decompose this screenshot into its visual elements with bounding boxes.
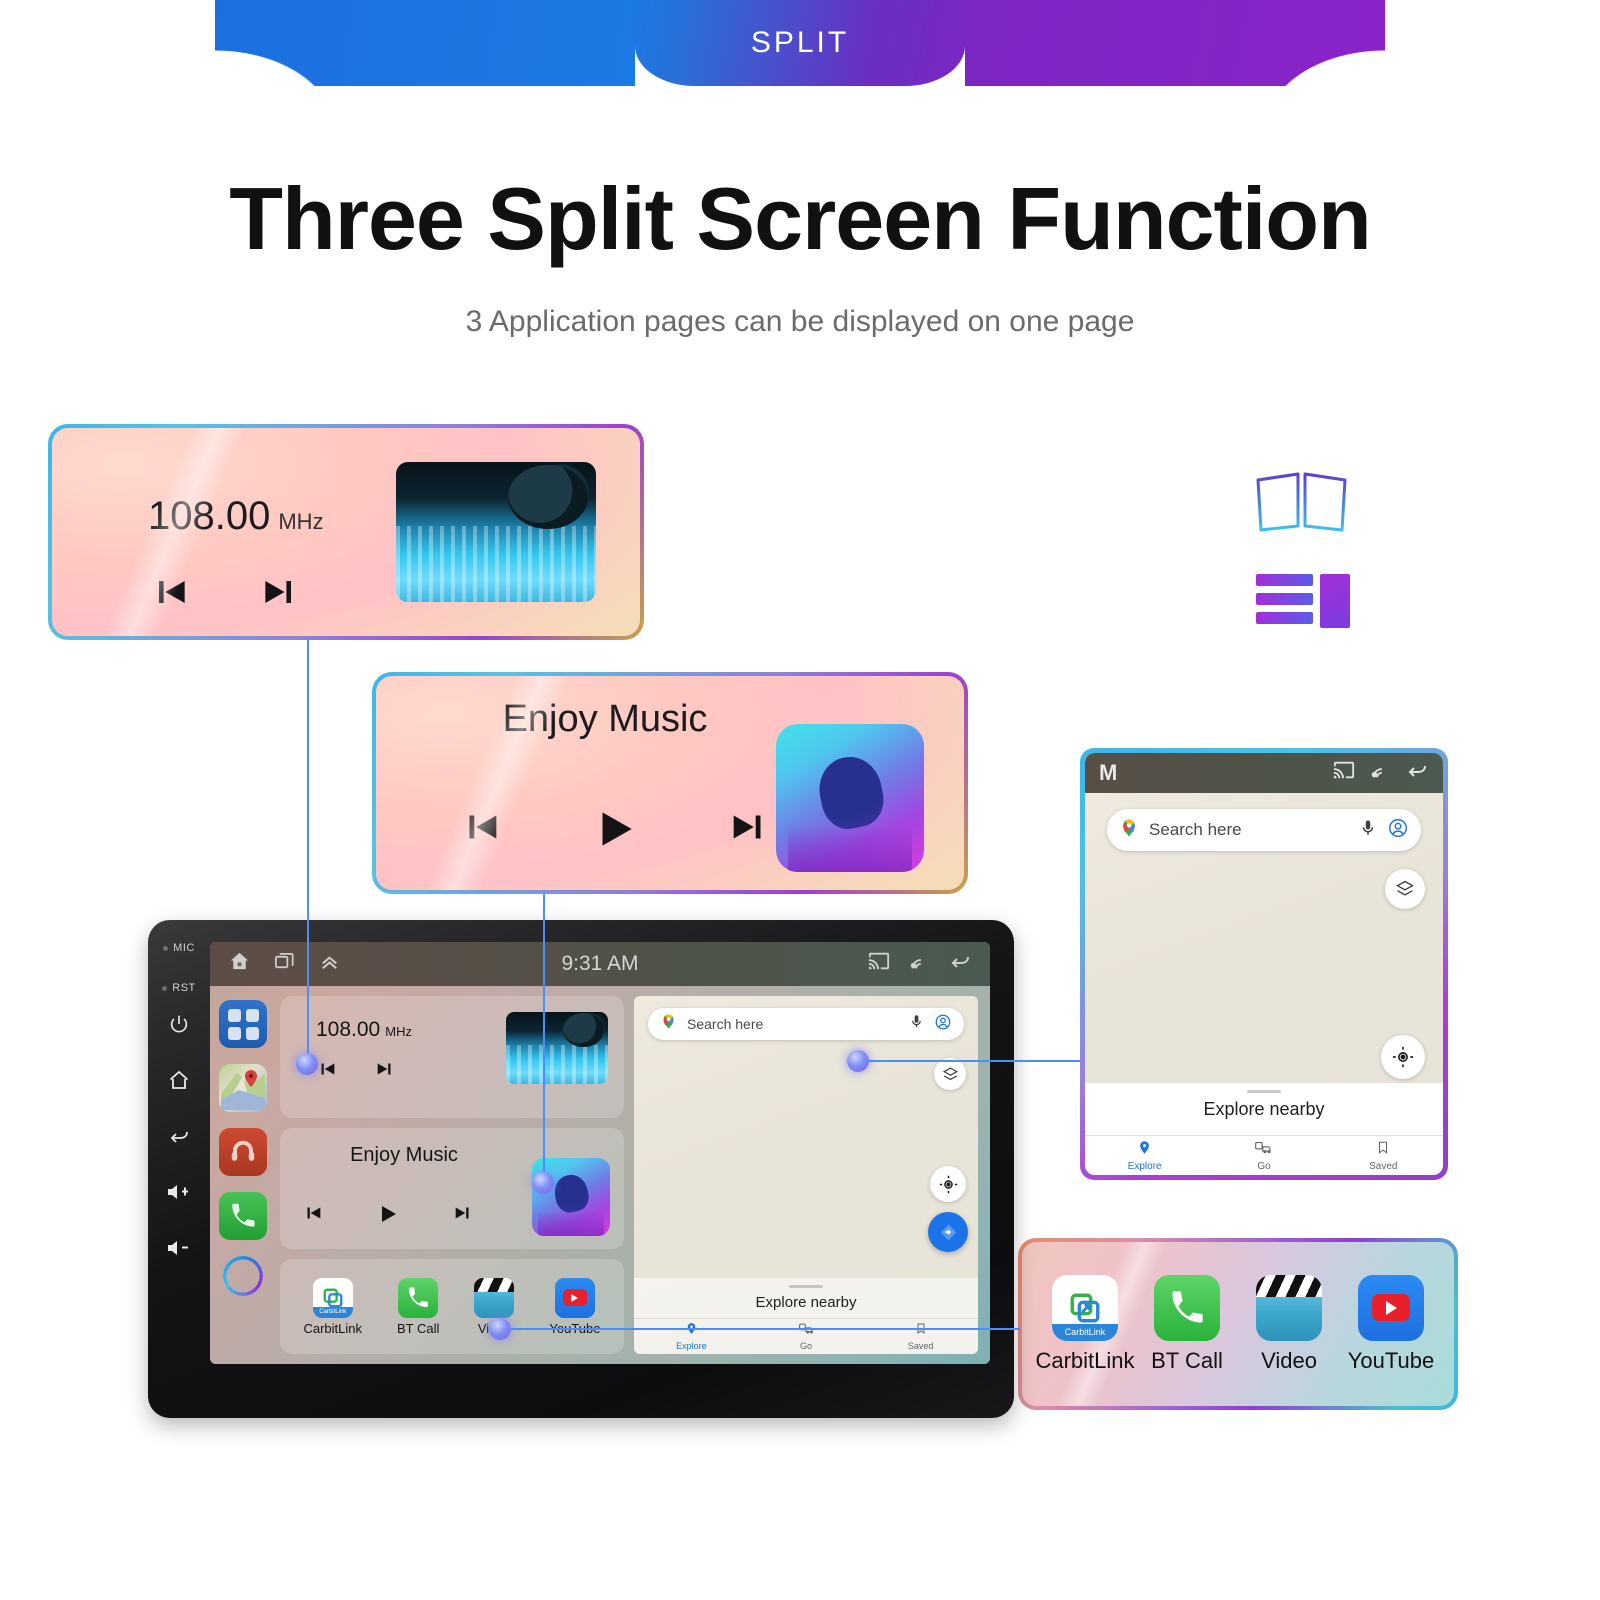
clapperboard-icon	[1256, 1275, 1322, 1341]
cast-icon[interactable]	[1333, 759, 1355, 787]
head-unit-statusbar: 9:31 AM	[210, 942, 990, 986]
connector-fm	[307, 640, 309, 1070]
fm-prev-button[interactable]	[148, 570, 192, 619]
carbitlink-badge: CarbitLink	[1052, 1324, 1118, 1341]
fm-next-button[interactable]	[258, 570, 302, 619]
maps-search-bar[interactable]: Search here	[1107, 809, 1421, 851]
split-layout-icon	[1256, 574, 1350, 628]
head-unit-music-widget[interactable]: Enjoy Music	[280, 1128, 624, 1250]
microphone-icon[interactable]	[1359, 819, 1377, 842]
maps-panel-title: M	[1099, 760, 1117, 786]
clapperboard-icon	[474, 1278, 514, 1318]
bezel-back-button[interactable]	[167, 1110, 191, 1162]
bookmark-icon	[1376, 1140, 1390, 1160]
head-unit-fm-controls	[316, 1058, 396, 1085]
commute-icon	[1255, 1140, 1272, 1160]
music-play-button[interactable]	[590, 804, 640, 859]
app-shortcuts-card: CarbitLink CarbitLink BT Call Video YouT…	[1018, 1238, 1458, 1410]
dock-maps-icon[interactable]	[219, 1064, 267, 1112]
connector-maps	[858, 1060, 1080, 1062]
head-unit-maps-search-placeholder: Search here	[687, 1016, 899, 1032]
head-unit-navigation-icon[interactable]	[928, 1212, 968, 1252]
app-label-youtube: YouTube	[1348, 1348, 1434, 1374]
connector-dot-fm	[296, 1053, 318, 1075]
dock-phone-icon[interactable]	[219, 1192, 267, 1240]
dock-apps-grid-icon[interactable]	[219, 1000, 267, 1048]
sheet-grabber[interactable]	[789, 1285, 823, 1288]
head-unit-maps-sheet: Explore nearby Explore Go	[634, 1278, 978, 1354]
app-label-video: Video	[1261, 1348, 1317, 1374]
bezel-mic-label: MIC	[163, 942, 195, 954]
app-shortcut-btcall[interactable]: BT Call	[1139, 1275, 1235, 1374]
page-subtitle: 3 Application pages can be displayed on …	[0, 305, 1600, 339]
head-unit-music-next-button[interactable]	[452, 1202, 474, 1231]
maps-tab-explore[interactable]: Explore	[1085, 1136, 1204, 1175]
fm-controls	[148, 570, 302, 619]
phone-icon	[1154, 1275, 1220, 1341]
connector-music	[543, 894, 545, 1189]
bezel-volume-up-button[interactable]	[166, 1166, 192, 1218]
maps-tab-saved[interactable]: Saved	[1324, 1136, 1443, 1175]
head-unit-explore-nearby-label: Explore nearby	[634, 1294, 978, 1311]
maps-tab-saved-label: Saved	[1369, 1161, 1397, 1172]
account-circle-icon[interactable]	[934, 1013, 952, 1036]
connector-dot-music	[532, 1172, 554, 1194]
account-circle-icon[interactable]	[1387, 817, 1409, 844]
dock-music-icon[interactable]	[219, 1128, 267, 1176]
bezel-volume-down-button[interactable]	[166, 1222, 192, 1274]
carbitlink-badge: CarbitLink	[313, 1307, 353, 1318]
head-unit-music-play-button[interactable]	[376, 1202, 400, 1231]
split-layout-illustrations	[1248, 466, 1368, 636]
google-maps-pin-icon	[660, 1013, 677, 1035]
head-unit-maps-tab-saved[interactable]: Saved	[863, 1319, 978, 1354]
app-label-carbitlink: CarbitLink	[1035, 1348, 1134, 1374]
maps-tab-go[interactable]: Go	[1204, 1136, 1323, 1175]
head-unit-maps-tab-go[interactable]: Go	[749, 1319, 864, 1354]
car-head-unit: MIC RST	[148, 920, 1014, 1418]
head-unit-maps-search-bar[interactable]: Search here	[648, 1008, 964, 1040]
music-next-button[interactable]	[726, 804, 772, 859]
head-unit-music-controls	[302, 1202, 474, 1231]
music-album-art	[776, 724, 924, 872]
youtube-icon	[555, 1278, 595, 1318]
head-unit-panels: 108.00MHz Enjoy Music	[276, 986, 990, 1364]
head-unit-maps-tab-saved-label: Saved	[908, 1341, 934, 1351]
maps-bottom-sheet: Explore nearby Explore Go	[1085, 1083, 1443, 1175]
head-unit-app-carbitlink[interactable]: CarbitLink CarbitLink	[303, 1278, 362, 1336]
bookmark-icon	[915, 1322, 927, 1340]
connector-dot-maps	[847, 1050, 869, 1072]
place-pin-icon	[685, 1322, 698, 1340]
fm-album-art	[396, 462, 596, 602]
music-prev-button[interactable]	[458, 804, 504, 859]
dual-pane-outline-icon	[1248, 466, 1356, 543]
head-unit-maps-tab-explore-label: Explore	[676, 1341, 707, 1351]
carbitlink-icon: CarbitLink	[1052, 1275, 1118, 1341]
commute-icon	[799, 1322, 814, 1340]
head-unit-layers-icon[interactable]	[934, 1058, 966, 1090]
head-unit-maps-body: Search here	[634, 996, 978, 1354]
statusbar-cast-icon[interactable]	[868, 950, 890, 978]
microphone-icon[interactable]	[909, 1014, 924, 1034]
head-unit-my-location-icon[interactable]	[930, 1166, 966, 1202]
head-unit-bezel: MIC RST	[148, 920, 210, 1418]
head-unit-fm-album-art	[506, 1012, 608, 1084]
maps-tab-explore-label: Explore	[1128, 1161, 1162, 1172]
maps-tab-go-label: Go	[1257, 1161, 1270, 1172]
head-unit-maps-tab-explore[interactable]: Explore	[634, 1319, 749, 1354]
google-maps-pin-icon	[1119, 818, 1139, 843]
maps-search-placeholder: Search here	[1149, 820, 1349, 840]
sheet-grabber[interactable]	[1247, 1090, 1281, 1093]
fm-radio-card: 108.00MHz	[48, 424, 644, 640]
connector-dot-apps	[489, 1318, 511, 1340]
connector-apps	[500, 1328, 1020, 1330]
dock-assistant-icon[interactable]	[223, 1256, 263, 1296]
head-unit-maps-tab-go-label: Go	[800, 1341, 812, 1351]
phone-icon	[398, 1278, 438, 1318]
app-shortcut-carbitlink[interactable]: CarbitLink CarbitLink	[1037, 1275, 1133, 1374]
statusbar-hotspot-icon[interactable]	[908, 950, 930, 978]
bezel-home-button[interactable]	[167, 1054, 191, 1106]
explore-nearby-label: Explore nearby	[1085, 1099, 1443, 1120]
head-unit-fm-next-button[interactable]	[374, 1058, 396, 1085]
maps-panel-body: Search here Explore nearby	[1085, 793, 1443, 1175]
head-unit-maps-panel: Search here	[634, 996, 978, 1354]
carbitlink-icon: CarbitLink	[313, 1278, 353, 1318]
statusbar-back-icon[interactable]	[948, 949, 972, 979]
wifi-hotspot-icon[interactable]	[1369, 759, 1391, 787]
maps-tabbar: Explore Go Saved	[1085, 1135, 1443, 1175]
head-unit-apps-widget: CarbitLink CarbitLink BT Call	[280, 1259, 624, 1354]
banner-label: SPLIT	[0, 0, 1600, 86]
head-unit-app-youtube[interactable]: YouTube	[549, 1278, 600, 1336]
page-title: Three Split Screen Function	[0, 168, 1600, 270]
head-unit-maps-tabbar: Explore Go Saved	[634, 1318, 978, 1354]
music-player-card: Enjoy Music	[372, 672, 968, 894]
app-shortcut-youtube[interactable]: YouTube	[1343, 1275, 1439, 1374]
head-unit-app-label-btcall: BT Call	[397, 1321, 439, 1336]
place-pin-icon	[1137, 1140, 1152, 1160]
layers-icon[interactable]	[1385, 869, 1425, 909]
bezel-power-button[interactable]	[168, 998, 190, 1050]
back-arrow-icon[interactable]	[1405, 758, 1429, 788]
app-label-btcall: BT Call	[1151, 1348, 1223, 1374]
head-unit-fm-widget[interactable]: 108.00MHz	[280, 996, 624, 1118]
head-unit-fm-prev-button[interactable]	[316, 1058, 338, 1085]
head-unit-fm-frequency: 108.00MHz	[316, 1018, 412, 1042]
maps-panel-statusbar: M	[1085, 753, 1443, 793]
head-unit-dock	[210, 986, 276, 1364]
bezel-rst-label: RST	[162, 982, 196, 994]
head-unit-screen: 9:31 AM	[210, 942, 990, 1364]
music-controls	[458, 804, 772, 859]
head-unit-app-label-carbitlink: CarbitLink	[303, 1321, 362, 1336]
youtube-icon	[1358, 1275, 1424, 1341]
head-unit-content: 108.00MHz Enjoy Music	[210, 986, 990, 1364]
maps-panel-card: M Search here	[1080, 748, 1448, 1180]
app-shortcut-video[interactable]: Video	[1241, 1275, 1337, 1374]
fm-frequency: 108.00MHz	[148, 494, 324, 539]
head-unit-music-prev-button[interactable]	[302, 1202, 324, 1231]
head-unit-left-column: 108.00MHz Enjoy Music	[280, 996, 624, 1354]
head-unit-app-btcall[interactable]: BT Call	[397, 1278, 439, 1336]
my-location-icon[interactable]	[1381, 1035, 1425, 1079]
